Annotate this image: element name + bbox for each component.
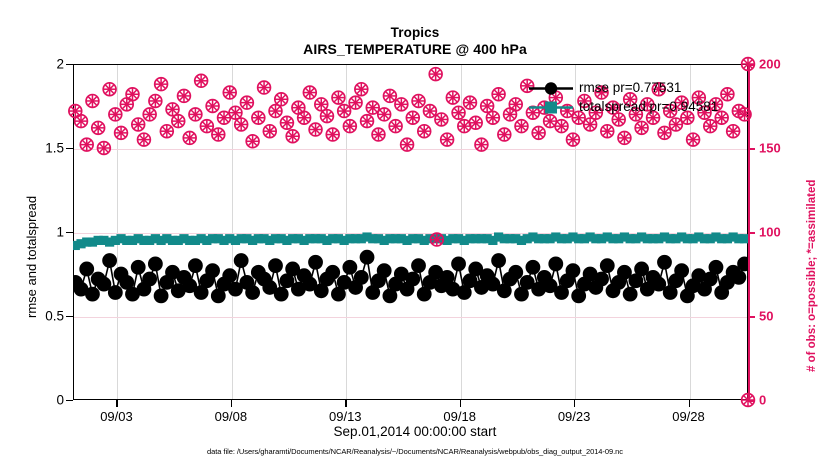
left-axis-tick [66,316,73,317]
title-region: Tropics [0,24,830,41]
legend[interactable]: rmse pr=0.77531 totalspread pr=0.94581 [527,79,742,117]
right-axis-tick [748,148,755,150]
left-axis-tick-label: 1 [56,225,64,240]
right-axis-tick-label: 50 [759,309,773,324]
gridline-vertical [117,65,118,399]
left-axis-tick-label: 0.5 [45,309,64,324]
left-axis-tick-label: 0 [56,393,64,408]
legend-item-rmse[interactable]: rmse pr=0.77531 [527,79,742,98]
right-axis-tick [748,232,755,234]
right-axis-tick-label: 150 [759,141,781,156]
x-axis-tick [345,400,346,407]
x-axis-tick-label: 09/08 [215,409,248,424]
right-axis-tick [748,64,755,66]
gridline-vertical [232,65,233,399]
right-axis-tick-label: 100 [759,225,781,240]
gridline-horizontal [74,233,747,234]
data-file-caption: data file: /Users/gharamti/Documents/NCA… [0,447,830,456]
x-axis-tick [116,400,117,407]
gridline-vertical [346,65,347,399]
title-variable: AIRS_TEMPERATURE @ 400 hPa [0,41,830,58]
gridline-horizontal [74,317,747,318]
right-axis-tick-label: 0 [759,393,766,408]
left-axis-tick [66,232,73,233]
x-axis-tick [231,400,232,407]
right-axis-tick [748,316,755,318]
gridline-vertical [461,65,462,399]
legend-label-totalspread: totalspread pr=0.94581 [579,99,718,114]
plot-figure: Tropics AIRS_TEMPERATURE @ 400 hPa 00.51… [0,0,830,470]
x-axis-tick-label: 09/18 [443,409,476,424]
x-axis-title: Sep.01,2014 00:00:00 start [0,424,830,439]
gridline-horizontal [74,149,747,150]
legend-item-totalspread[interactable]: totalspread pr=0.94581 [527,98,742,117]
right-axis-tick-label: 200 [759,57,781,72]
left-axis-tick [66,64,73,65]
right-axis-title: # of obs: o=possible; *=assimilated [806,180,818,372]
left-axis-tick-label: 1.5 [45,141,64,156]
totalspread-marker-icon [527,98,575,117]
rmse-marker-icon [527,79,575,98]
x-axis-tick-label: 09/28 [672,409,705,424]
x-axis-tick [460,400,461,407]
x-axis-tick-label: 09/23 [558,409,591,424]
left-axis-title: rmse and totalspread [24,196,39,318]
left-axis-tick [66,148,73,149]
left-axis-tick [66,400,73,401]
legend-label-rmse: rmse pr=0.77531 [579,80,681,95]
x-axis-tick-label: 09/13 [329,409,362,424]
x-axis-tick [574,400,575,407]
x-axis-tick [689,400,690,407]
left-axis-tick-label: 2 [56,57,64,72]
right-axis-tick [748,400,755,402]
chart-title: Tropics AIRS_TEMPERATURE @ 400 hPa [0,24,830,58]
x-axis-tick-label: 09/03 [100,409,133,424]
